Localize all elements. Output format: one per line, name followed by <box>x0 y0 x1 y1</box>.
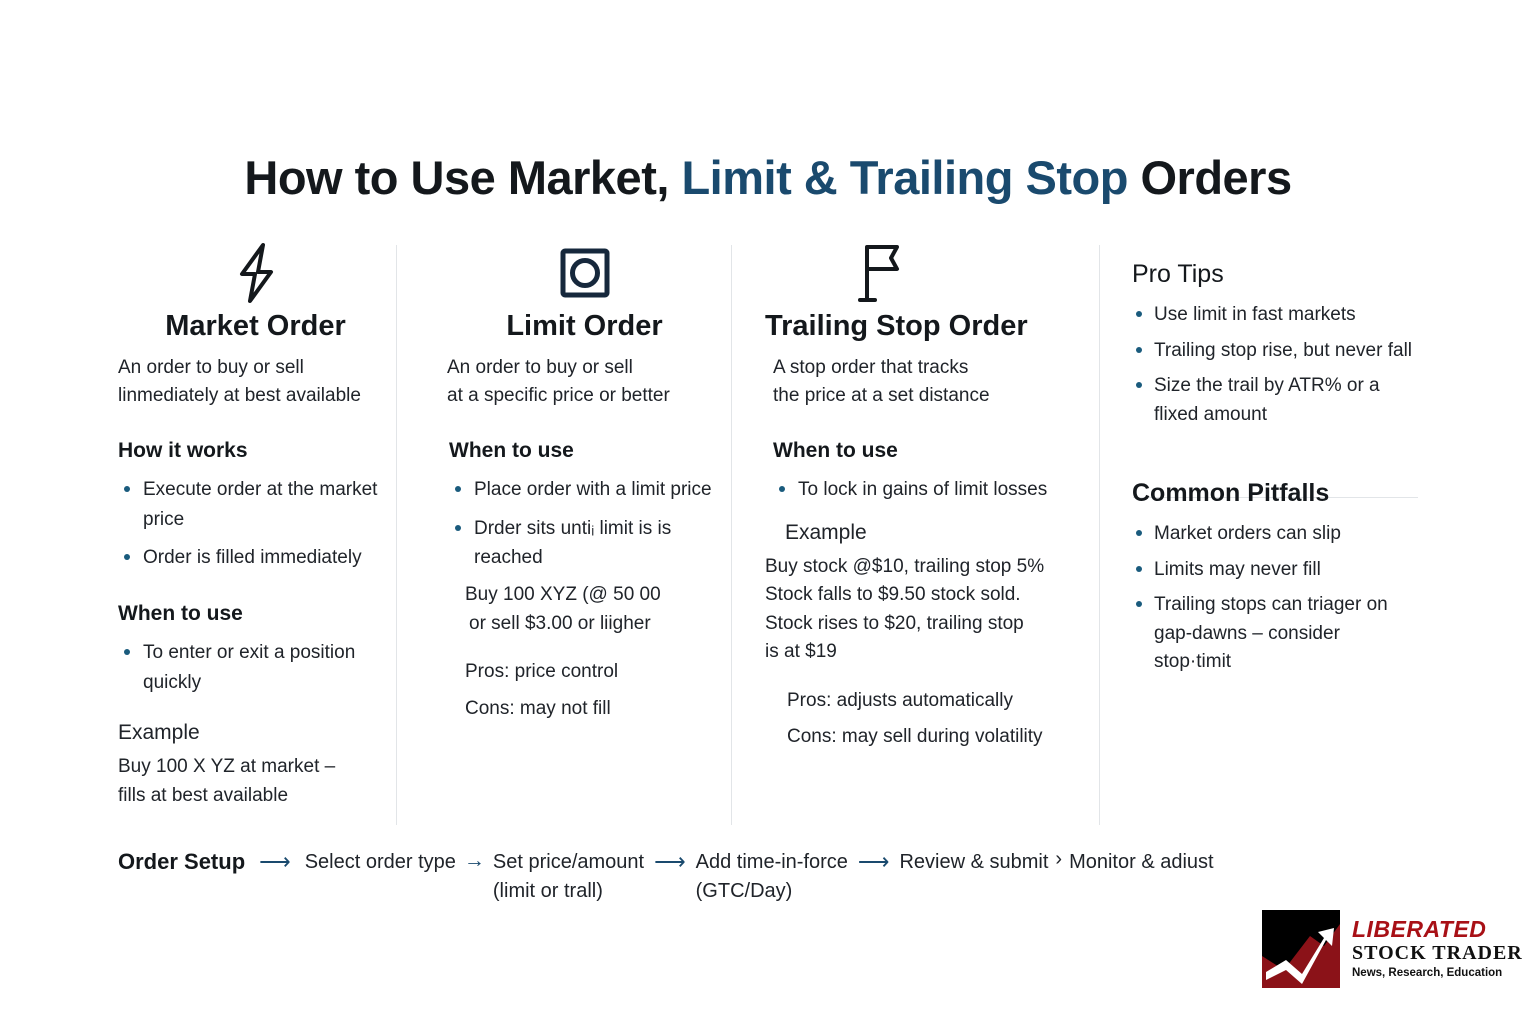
card-title-limit-order: Limit Order <box>443 310 726 343</box>
infographic-page: How to Use Market, Limit & Trailing Stop… <box>0 0 1536 1024</box>
section-head-when-to-use: When to use <box>449 439 726 463</box>
example-line: Stock rises to $20, trailing stop <box>765 610 1095 639</box>
sidebar-head-pro-tips: Pro Tips <box>1132 260 1422 289</box>
flow-step-3: Add time-in-force (GTC/Day) <box>696 848 848 906</box>
subtitle-line: An order to buy or sell <box>118 354 393 382</box>
list-item: Use limit in fast markets <box>1132 301 1422 330</box>
list-item: Limits may never fill <box>1132 556 1422 585</box>
list-item: Order is filled immediately <box>118 543 393 572</box>
arrow-long-icon: ⟶ <box>654 848 686 875</box>
card-title-market-order: Market Order <box>118 310 393 343</box>
flow-step-main: Monitor & adiust <box>1069 851 1214 873</box>
flow-step-2: Set price/amount (limit or trall) <box>493 848 644 906</box>
flow-step-main: Add time-in-force <box>696 851 848 873</box>
brand-logo: LIBERATED STOCK TRADER News, Research, E… <box>1262 910 1523 988</box>
list-item: To lock in gains of limit losses <box>773 475 1095 504</box>
flow-step-main: Set price/amount <box>493 851 644 873</box>
example-line: Buy stock @$10, trailing stop 5% <box>765 553 1095 582</box>
bullet-list-common-pitfalls: Market orders can slip Limits may never … <box>1132 520 1422 677</box>
card-market-order: Market Order An order to buy or sell lin… <box>118 240 393 810</box>
page-title: How to Use Market, Limit & Trailing Stop… <box>0 150 1536 205</box>
list-item: Drder sits untiᵢ limit is is reached <box>449 514 726 573</box>
card-title-trailing-stop-order: Trailing Stop Order <box>765 310 1095 343</box>
card-limit-order: Limit Order An order to buy or sell at a… <box>443 240 726 723</box>
section-head-when-to-use: When to use <box>118 602 393 626</box>
flow-step-1: Select order type <box>305 848 456 877</box>
logo-line-1: LIBERATED <box>1352 917 1523 942</box>
flow-step-sub: (limit or trall) <box>493 877 644 906</box>
flow-label: Order Setup <box>118 848 245 875</box>
bullet-list-pro-tips: Use limit in fast markets Trailing stop … <box>1132 301 1422 429</box>
lightning-bolt-icon <box>118 240 393 306</box>
example-head-trailing-stop: Example <box>785 521 1095 545</box>
list-item: Trailing stops can triager on gap-dawns … <box>1132 591 1422 677</box>
card-subtitle-limit-order: An order to buy or sell at a specific pr… <box>447 354 726 409</box>
example-head-market-order: Example <box>118 721 393 745</box>
example-line: Stock falls to $9.50 stock sold. <box>765 581 1095 610</box>
bullet-list-how-it-works: Execute order at the market price Order … <box>118 475 393 572</box>
square-ring-icon <box>443 240 726 306</box>
bullet-list-when-to-use: To lock in gains of limit losses <box>773 475 1095 504</box>
card-subtitle-trailing-stop-order: A stop order that tracks the price at a … <box>773 354 1095 409</box>
cons-line: Cons: may sell during volatility <box>787 723 1095 752</box>
list-item: Execute order at the market price <box>118 475 393 534</box>
logo-mark-icon <box>1262 910 1340 988</box>
columns-container: Market Order An order to buy or sell lin… <box>0 240 1536 840</box>
subtitle-line: A stop order that tracks <box>773 354 1095 382</box>
card-subtitle-market-order: An order to buy or sell linmediately at … <box>118 354 393 409</box>
list-item: To enter or exit a position quickly <box>118 638 393 697</box>
bullet-list-when-to-use: Place order with a limit price Drder sit… <box>449 475 726 572</box>
pros-line: Pros: price control <box>465 658 726 687</box>
logo-line-3: News, Research, Education <box>1352 967 1523 981</box>
subtitle-line: linmediately at best available <box>118 382 393 410</box>
list-item: Trailing stop rise, but never fall <box>1132 337 1422 366</box>
flow-step-main: Review & submit <box>899 851 1048 873</box>
flow-step-main: Select order type <box>305 851 456 873</box>
cons-line: Cons: may not fill <box>465 695 726 724</box>
arrow-short-icon: → <box>464 848 485 873</box>
example-line: or sell $3.00 or liigher <box>469 610 726 639</box>
subtitle-line: An order to buy or sell <box>447 354 726 382</box>
title-part-2: Orders <box>1128 151 1292 204</box>
order-setup-flow: Order Setup ⟶ Select order type → Set pr… <box>118 848 1418 906</box>
list-item: Size the trail by ATR% or a flixed amoun… <box>1132 372 1422 429</box>
arrow-long-icon: ⟶ <box>259 848 291 875</box>
section-head-when-to-use: When to use <box>773 439 1095 463</box>
example-line: Buy 100 XYZ (@ 50 00 <box>465 581 726 610</box>
sidebar-tips: Pro Tips Use limit in fast markets Trail… <box>1132 240 1422 684</box>
flow-step-5: Monitor & adiust <box>1069 848 1214 877</box>
example-line: Buy 100 X YZ at market – <box>118 753 393 782</box>
subtitle-line: at a specific price or better <box>447 382 726 410</box>
pros-line: Pros: adjusts automatically <box>787 687 1095 716</box>
list-item: Market orders can slip <box>1132 520 1422 549</box>
chevron-right-icon: › <box>1055 848 1062 871</box>
example-line: fills at best available <box>118 782 393 811</box>
title-accent: Limit & Trailing Stop <box>681 151 1127 204</box>
logo-line-2: STOCK TRADER <box>1352 942 1523 965</box>
logo-text: LIBERATED STOCK TRADER News, Research, E… <box>1352 910 1523 988</box>
flag-icon <box>765 240 1095 306</box>
section-head-how-it-works: How it works <box>118 439 393 463</box>
flow-step-4: Review & submit <box>899 848 1048 877</box>
card-trailing-stop-order: Trailing Stop Order A stop order that tr… <box>765 240 1095 752</box>
example-line: is at $19 <box>765 638 1095 667</box>
title-part-1: How to Use Market, <box>244 151 681 204</box>
flow-step-sub: (GTC/Day) <box>696 877 848 906</box>
subtitle-line: the price at a set distance <box>773 382 1095 410</box>
sidebar-head-common-pitfalls: Common Pitfalls <box>1132 479 1422 508</box>
bullet-list-when-to-use: To enter or exit a position quickly <box>118 638 393 697</box>
list-item: Place order with a limit price <box>449 475 726 504</box>
arrow-long-icon: ⟶ <box>858 848 890 875</box>
